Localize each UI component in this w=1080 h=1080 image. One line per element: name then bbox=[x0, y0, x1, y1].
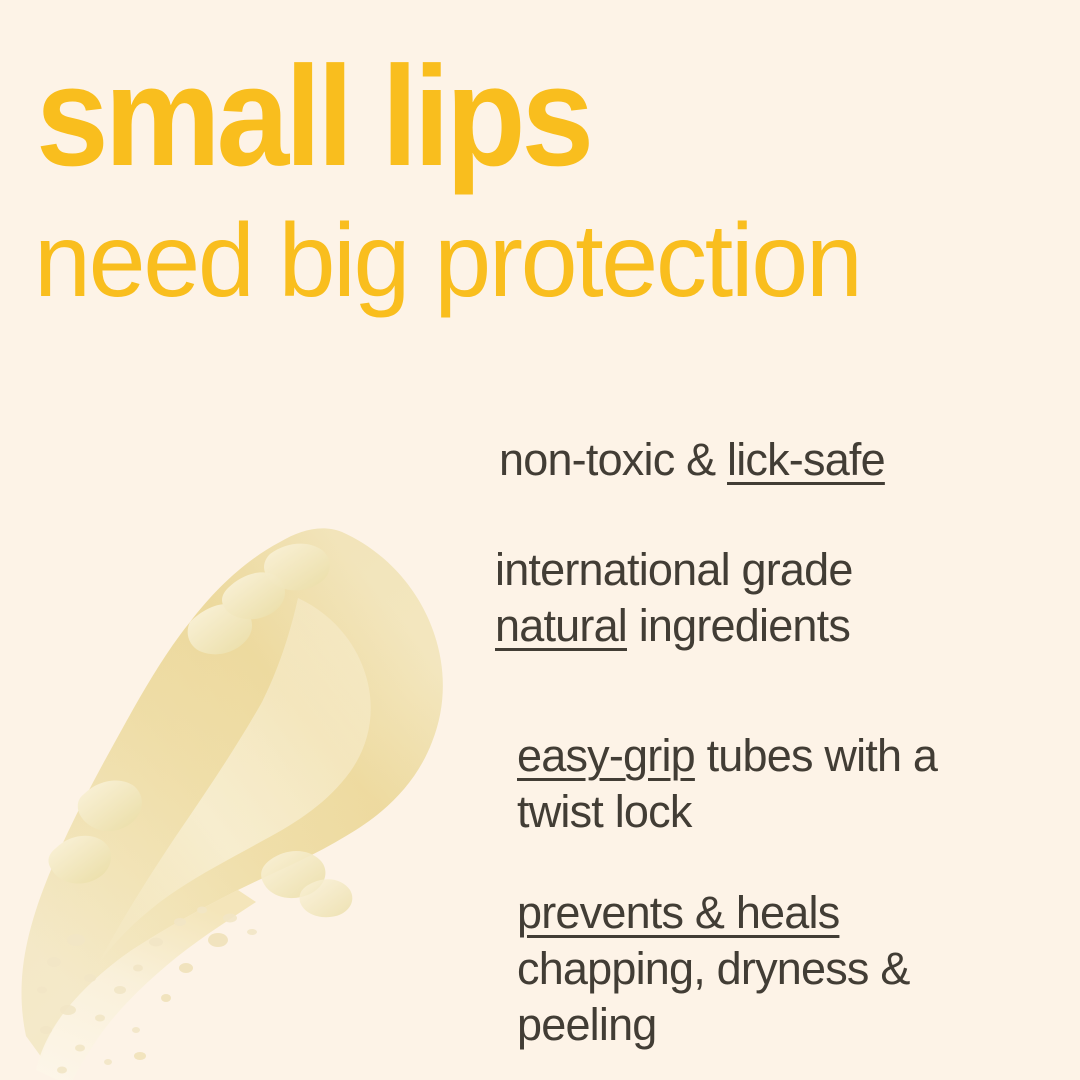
feature-easy-grip-tubes-twist-lock-segment-0-emphasis: easy-grip bbox=[517, 730, 695, 781]
feature-non-toxic-lick-safe-segment-1-emphasis: lick-safe bbox=[727, 434, 885, 485]
feature-international-grade-natural-ingredients-segment-0: international grade bbox=[495, 544, 853, 595]
feature-international-grade-natural-ingredients-segment-1-emphasis: natural bbox=[495, 600, 627, 651]
feature-item-easy-grip-tubes-twist-lock: easy-grip tubes with a twist lock bbox=[517, 728, 937, 840]
feature-item-international-grade-natural-ingredients: international grade natural ingredients bbox=[495, 542, 853, 654]
feature-international-grade-natural-ingredients-segment-2: ingredients bbox=[627, 600, 850, 651]
feature-item-non-toxic-lick-safe: non-toxic & lick-safe bbox=[499, 432, 885, 488]
feature-list: non-toxic & lick-safe international grad… bbox=[0, 0, 1080, 1080]
feature-prevents-heals-chapping-dryness-peeling-segment-0-emphasis: prevents & heals bbox=[517, 887, 839, 938]
feature-prevents-heals-chapping-dryness-peeling-segment-1: chapping, dryness & peeling bbox=[517, 943, 910, 1050]
promo-poster: small lips need big protection bbox=[0, 0, 1080, 1080]
feature-item-prevents-heals-chapping-dryness-peeling: prevents & heals chapping, dryness & pee… bbox=[517, 885, 910, 1053]
feature-non-toxic-lick-safe-segment-0: non-toxic & bbox=[499, 434, 727, 485]
